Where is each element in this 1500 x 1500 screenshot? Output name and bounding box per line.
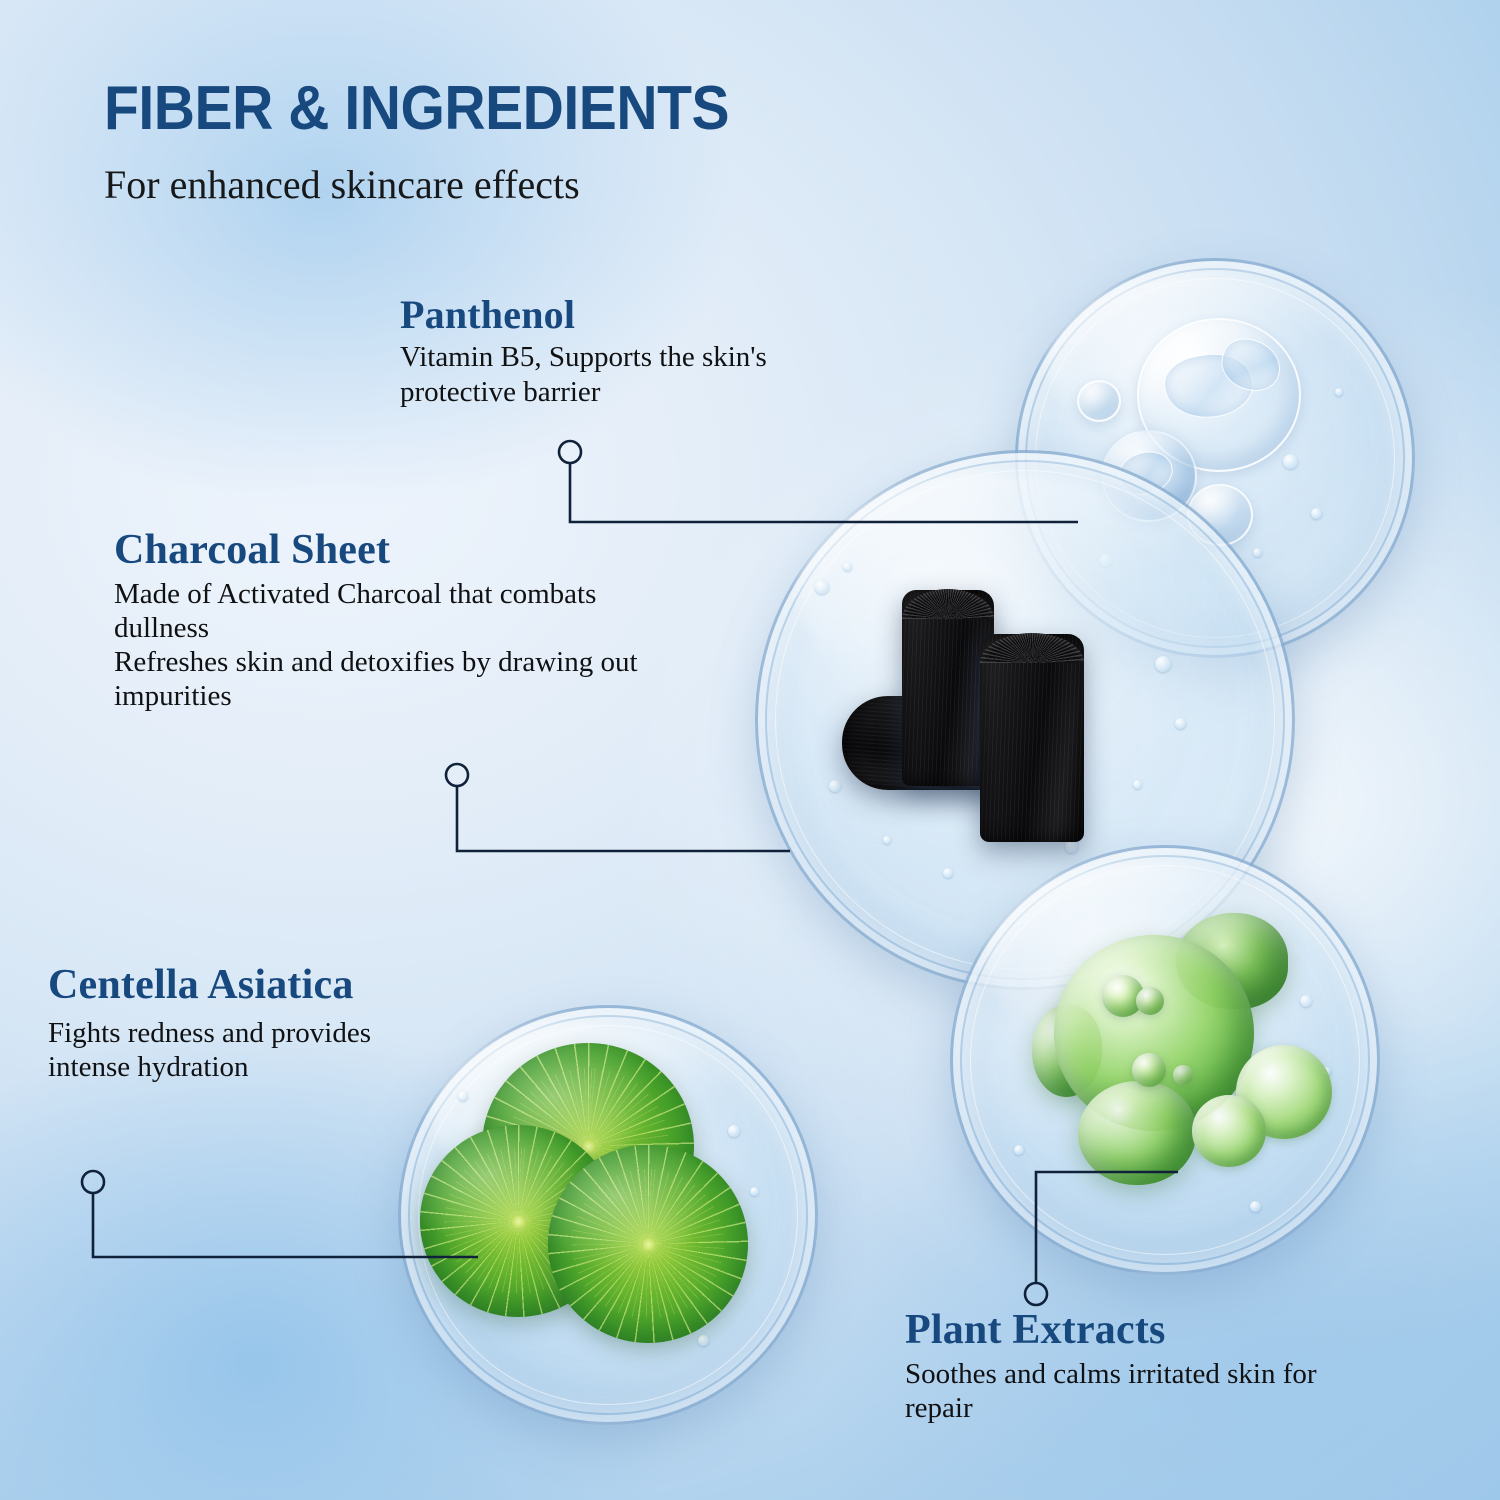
page-title: FIBER & INGREDIENTS xyxy=(104,78,729,140)
water-droplet-3 xyxy=(1253,548,1262,557)
activated-charcoal-sticks xyxy=(850,590,1160,870)
ingredient-name-charcoal-sheet: Charcoal Sheet xyxy=(114,528,674,573)
centella-leaf-right xyxy=(548,1145,748,1343)
gel-bubble-3 xyxy=(1132,1053,1166,1087)
gel-blob-bottom xyxy=(1078,1081,1196,1185)
charcoal-end-grain xyxy=(902,589,994,619)
water-droplet-3 xyxy=(458,1091,468,1101)
water-droplet-1 xyxy=(815,580,829,594)
infographic-canvas: FIBER & INGREDIENTS For enhanced skincar… xyxy=(0,0,1500,1500)
ingredient-block-panthenol: Panthenol Vitamin B5, Supports the skin'… xyxy=(400,294,830,409)
gel-bubble-4 xyxy=(1173,1065,1193,1085)
leaf-center xyxy=(641,1237,656,1252)
ingredient-name-panthenol: Panthenol xyxy=(400,294,830,336)
water-droplet-3 xyxy=(829,780,841,792)
water-droplet-1 xyxy=(1283,454,1298,469)
petri-dish-plant-extract xyxy=(950,845,1380,1275)
charcoal-end-grain xyxy=(980,633,1084,663)
water-droplet-2 xyxy=(1311,508,1322,519)
gel-blob-bottom-right xyxy=(1192,1095,1266,1167)
charcoal-stick-front xyxy=(980,634,1084,842)
water-droplet-4 xyxy=(698,1335,709,1346)
water-droplet-5 xyxy=(1175,718,1186,729)
ingredient-description-charcoal-sheet: Made of Activated Charcoal that combats … xyxy=(114,577,674,714)
ingredient-description-centella-asiatica: Fights redness and provides intense hydr… xyxy=(48,1016,448,1084)
water-droplet-2 xyxy=(750,1187,759,1196)
ingredient-block-centella-asiatica: Centella Asiatica Fights redness and pro… xyxy=(48,963,448,1084)
gel-bubble-2 xyxy=(1136,987,1164,1015)
ingredient-block-charcoal-sheet: Charcoal Sheet Made of Activated Charcoa… xyxy=(114,528,674,713)
ingredient-description-plant-extracts: Soothes and calms irritated skin for rep… xyxy=(905,1357,1375,1425)
page-subtitle: For enhanced skincare effects xyxy=(104,163,580,207)
water-droplet-4 xyxy=(1014,1145,1024,1155)
bubble-small-2 xyxy=(1077,380,1121,422)
water-droplet-2 xyxy=(843,562,852,571)
leaf-center xyxy=(511,1214,526,1229)
petri-dish-centella xyxy=(398,1005,818,1425)
ingredient-name-centella-asiatica: Centella Asiatica xyxy=(48,963,448,1008)
water-droplet-1 xyxy=(728,1125,740,1137)
ingredient-block-plant-extracts: Plant Extracts Soothes and calms irritat… xyxy=(905,1308,1375,1425)
ingredient-description-panthenol: Vitamin B5, Supports the skin's protecti… xyxy=(400,340,830,408)
ingredient-name-plant-extracts: Plant Extracts xyxy=(905,1308,1375,1353)
green-gel-droplet-cluster xyxy=(1040,913,1330,1203)
water-droplet-5 xyxy=(1335,388,1343,396)
